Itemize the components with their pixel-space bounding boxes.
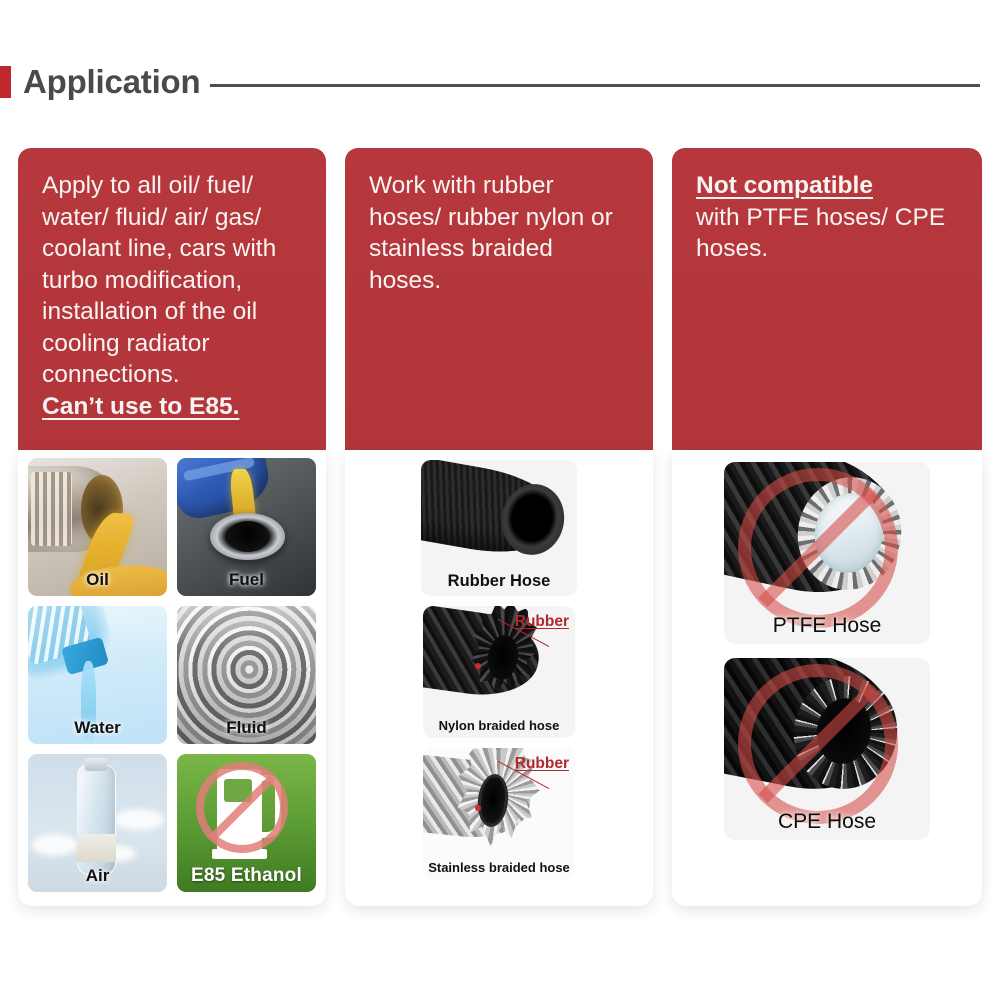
compatible-description: Work with rubber hoses/ rubber nylon or … (369, 170, 631, 296)
section-header: Application (0, 58, 1000, 106)
thumb-water-label: Water (28, 718, 167, 738)
fuel-filler-hole-shape (227, 521, 269, 551)
section-marker-icon (0, 66, 11, 98)
thumb-e85-ethanol[interactable]: E85 Ethanol (177, 754, 316, 892)
thumb-oil[interactable]: Oil (28, 458, 167, 596)
incompatible-description: with PTFE hoses/ CPE hoses. (696, 202, 960, 265)
thumb-oil-label: Oil (28, 570, 167, 590)
hose-rubber-label: Rubber Hose (421, 572, 577, 591)
callout-target-dot (475, 805, 481, 811)
incompatible-title: Not compatible (696, 170, 960, 202)
compatible-hose-panel: Rubber Hose Rubber Nylon braided hose (345, 450, 653, 906)
column-compatible-hoses: Work with rubber hoses/ rubber nylon or … (345, 148, 653, 906)
thumb-fuel[interactable]: Fuel (177, 458, 316, 596)
hose-cpe[interactable]: CPE Hose (724, 658, 930, 840)
callout-target-dot (475, 663, 481, 669)
hose-nylon-braided[interactable]: Rubber Nylon braided hose (423, 606, 575, 738)
applications-description: Apply to all oil/ fuel/ water/ fluid/ ai… (42, 170, 304, 391)
hose-ptfe-label: PTFE Hose (724, 614, 930, 638)
hose-nylon-callout-label: Rubber (515, 613, 569, 631)
hose-stainless-callout-label: Rubber (515, 755, 569, 773)
hose-nylon-label: Nylon braided hose (423, 718, 575, 733)
thumb-fluid[interactable]: Fluid (177, 606, 316, 744)
air-cloud-shape (114, 809, 164, 830)
header-divider (210, 84, 980, 87)
page-title: Application (23, 63, 200, 101)
application-infographic: Application Apply to all oil/ fuel/ wate… (0, 0, 1000, 1000)
applications-thumbnail-panel: Oil Fuel Wate (18, 450, 326, 906)
column-incompatible-hoses: Not compatible with PTFE hoses/ CPE hose… (672, 148, 982, 906)
oil-can-rings-shape (31, 472, 73, 547)
applications-card-header: Apply to all oil/ fuel/ water/ fluid/ ai… (18, 148, 326, 450)
air-bottle-label-shape (77, 834, 116, 862)
compatible-hose-list: Rubber Hose Rubber Nylon braided hose (355, 458, 643, 892)
hose-stainless-braided[interactable]: Rubber Stainless braided hose (423, 748, 575, 880)
thumb-e85-label: E85 Ethanol (177, 865, 316, 887)
applications-warning: Can’t use to E85. (42, 391, 304, 423)
hose-rubber[interactable]: Rubber Hose (421, 460, 577, 596)
compatible-card-header: Work with rubber hoses/ rubber nylon or … (345, 148, 653, 450)
column-applications: Apply to all oil/ fuel/ water/ fluid/ ai… (18, 148, 326, 906)
hose-stainless-label: Stainless braided hose (423, 860, 575, 875)
thumb-fluid-label: Fluid (177, 718, 316, 738)
thumb-air[interactable]: Air (28, 754, 167, 892)
thumb-water[interactable]: Water (28, 606, 167, 744)
air-cloud-shape (31, 834, 78, 856)
incompatible-hose-panel: PTFE Hose CPE Hose (672, 450, 982, 906)
hose-cpe-label: CPE Hose (724, 810, 930, 834)
incompatible-card-header: Not compatible with PTFE hoses/ CPE hose… (672, 148, 982, 450)
applications-thumbnail-grid: Oil Fuel Wate (28, 458, 316, 892)
incompatible-hose-list: PTFE Hose CPE Hose (682, 458, 972, 892)
thumb-fuel-label: Fuel (177, 570, 316, 590)
air-bottle-cap-shape (85, 758, 107, 770)
thumb-air-label: Air (28, 866, 167, 886)
application-columns: Apply to all oil/ fuel/ water/ fluid/ ai… (18, 148, 982, 908)
hose-ptfe[interactable]: PTFE Hose (724, 462, 930, 644)
